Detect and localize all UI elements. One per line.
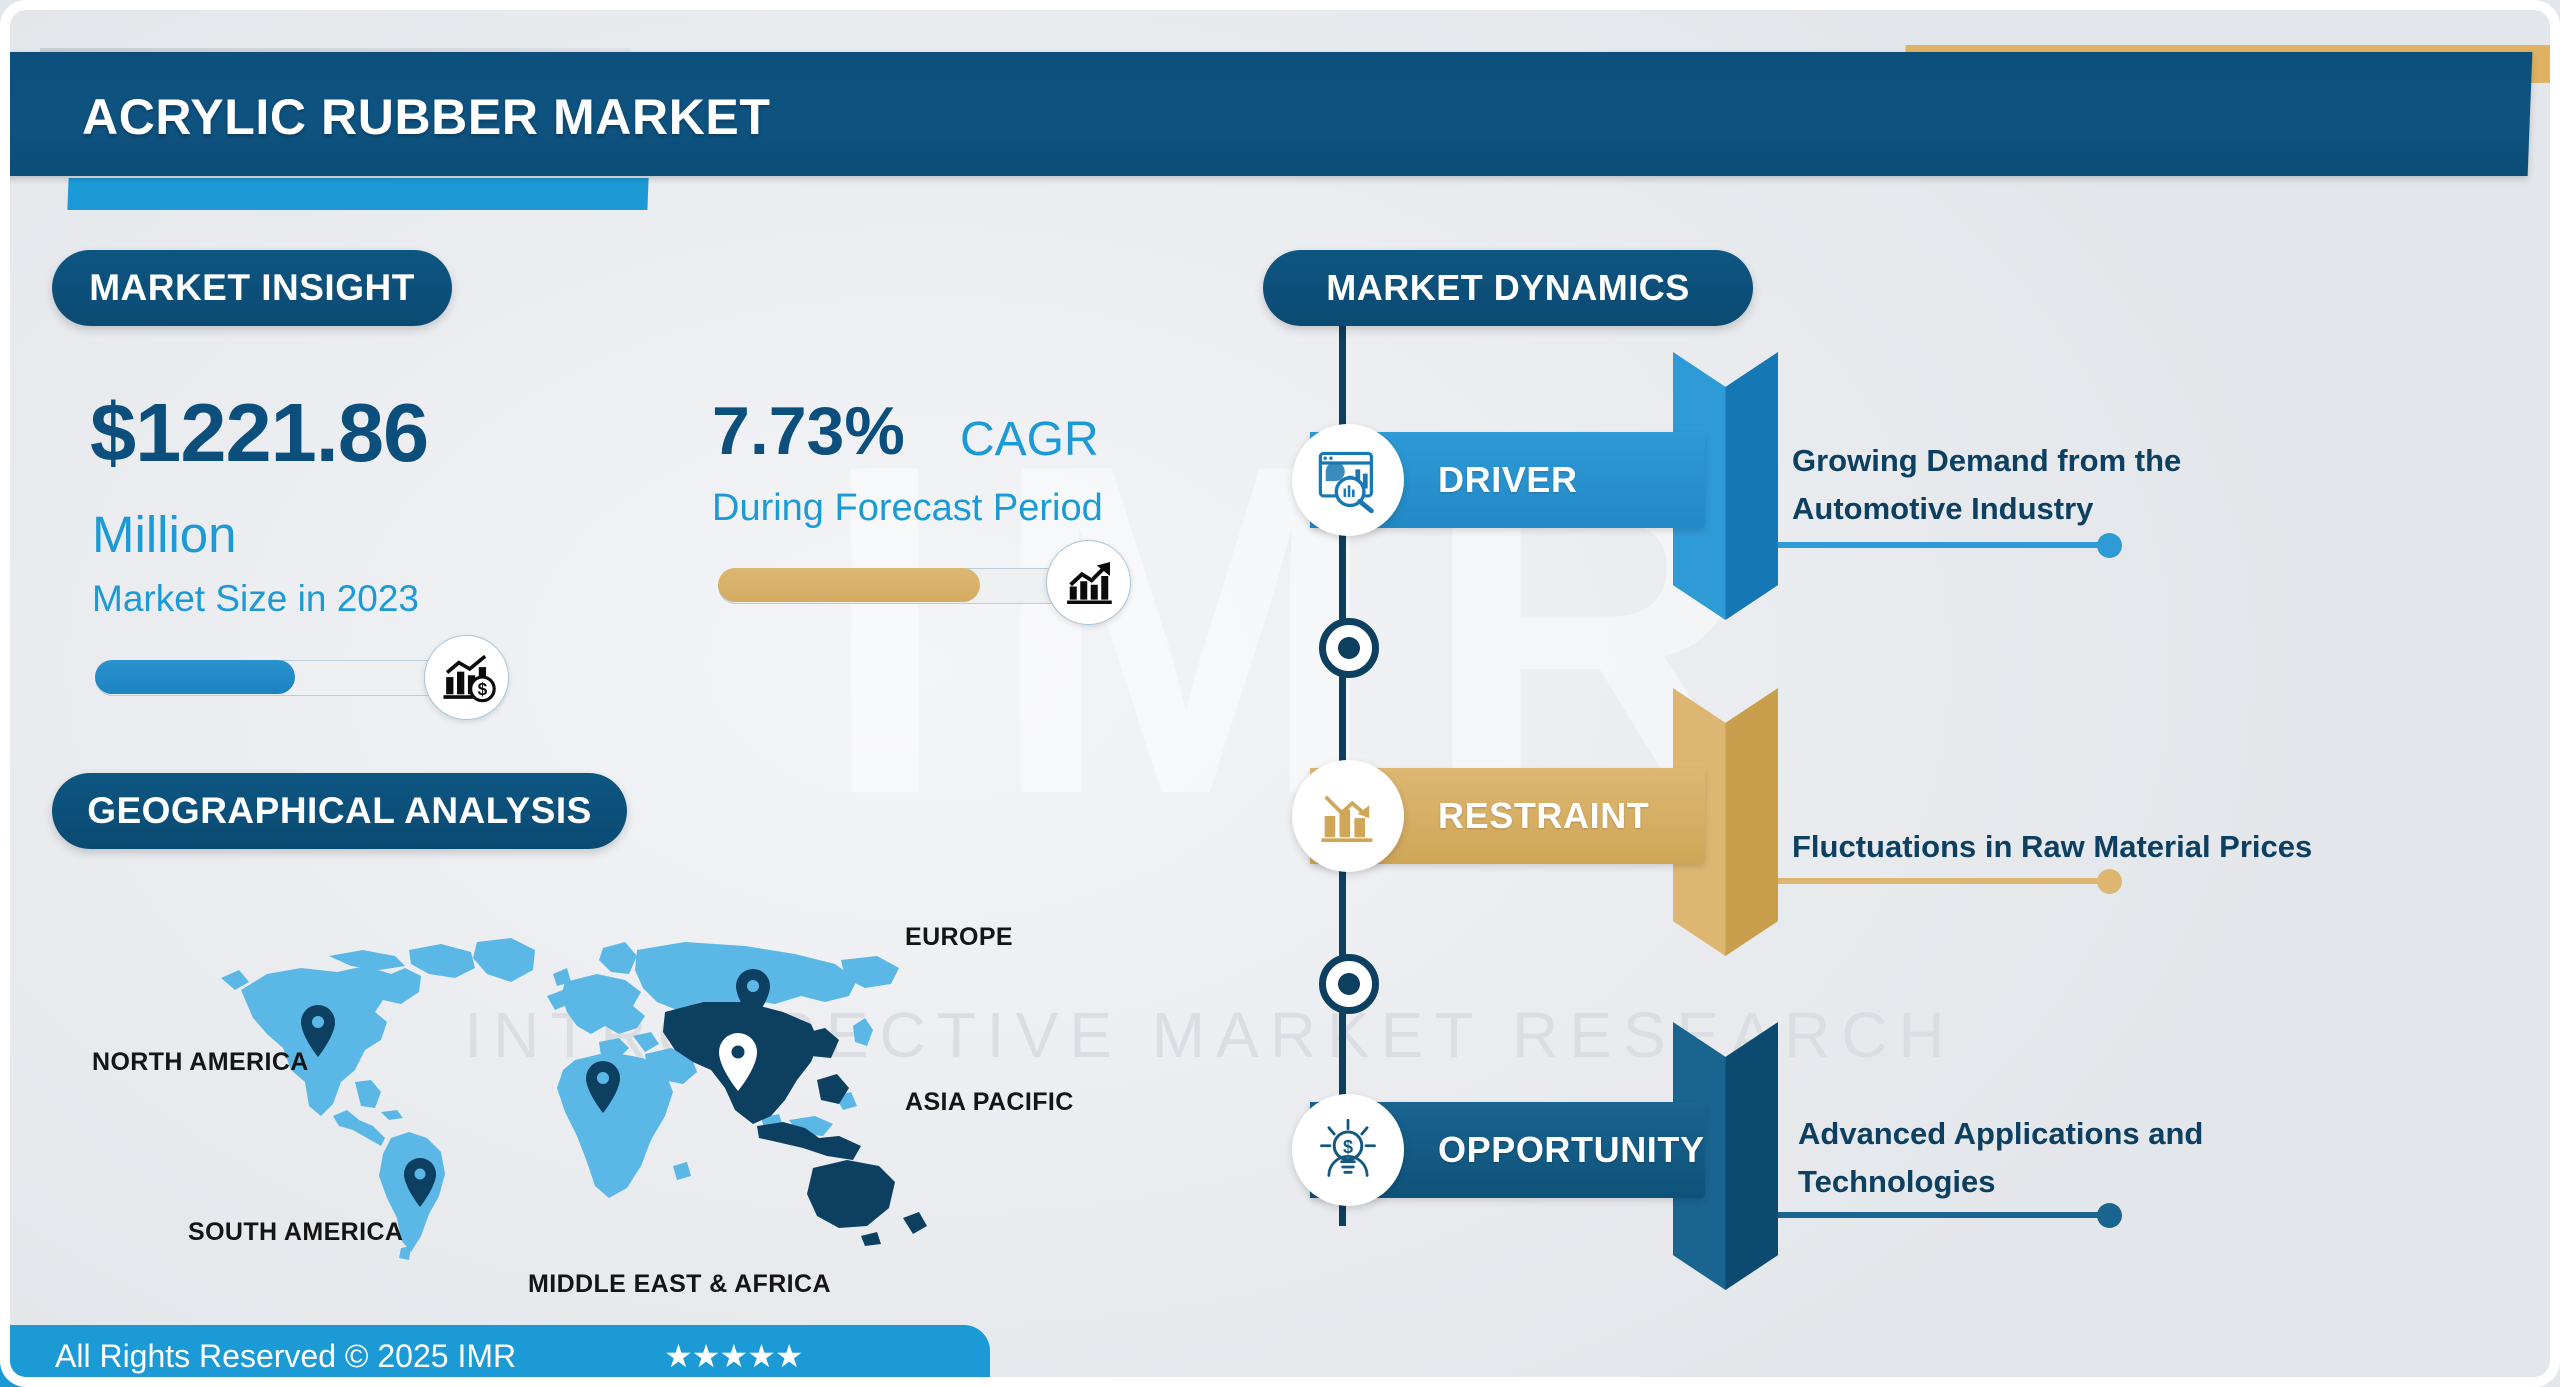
restraint-label: RESTRAINT [1438,795,1649,837]
restraint-text: Fluctuations in Raw Material Prices [1792,823,2312,871]
bar-chart-dollar-icon: $ [424,635,509,720]
restraint-connector [1778,878,2108,884]
driver-connector-dot [2097,533,2122,558]
opportunity-connector [1778,1212,2108,1218]
market-insight-pill: MARKET INSIGHT [52,250,452,326]
market-dynamics-pill: MARKET DYNAMICS [1263,250,1753,326]
timeline-node-2 [1319,954,1379,1014]
copyright-text: All Rights Reserved © 2025 IMR [55,1338,516,1375]
imr-logo-watermark: IMR [600,240,2020,1020]
geographical-analysis-pill: GEOGRAPHICAL ANALYSIS [52,773,627,849]
infographic-canvas: IMR INTROSPECTIVE MARKET RESEARCH ACRYLI… [0,0,2560,1387]
lightbulb-dollar-icon: $ [1292,1094,1404,1206]
growth-chart-icon [1046,540,1131,625]
restraint-connector-dot [2097,869,2122,894]
market-size-value: $1221.86 [90,385,428,481]
map-label-north-america: NORTH AMERICA [92,1048,309,1077]
page-title: ACRYLIC RUBBER MARKET [82,88,771,146]
map-label-europe: EUROPE [905,923,1013,952]
timeline-node-1 [1319,618,1379,678]
svg-text:$: $ [477,679,487,699]
footer-bar: All Rights Reserved © 2025 IMR ★★★★★ [0,1325,990,1387]
driver-text: Growing Demand from the Automotive Indus… [1792,437,2312,533]
market-size-progress-fill [95,660,295,694]
opportunity-connector-dot [2097,1203,2122,1228]
driver-connector [1778,542,2108,548]
analytics-search-icon [1292,424,1404,536]
cagr-label: CAGR [960,412,1099,467]
cagr-progress-fill [718,568,980,602]
driver-label: DRIVER [1438,459,1578,501]
cagr-caption: During Forecast Period [712,487,1103,530]
cagr-value: 7.73% [712,392,905,470]
opportunity-text: Advanced Applications and Technologies [1798,1110,2318,1206]
map-label-south-america: SOUTH AMERICA [188,1218,403,1247]
header-underline-accent [67,178,648,210]
star-rating: ★★★★★ [664,1337,802,1375]
opportunity-label: OPPORTUNITY [1438,1129,1705,1171]
map-label-middle-east-africa: MIDDLE EAST & AFRICA [528,1270,831,1299]
market-size-unit: Million [92,505,237,564]
market-size-caption: Market Size in 2023 [92,578,419,620]
declining-chart-icon [1292,760,1404,872]
map-label-asia-pacific: ASIA PACIFIC [905,1088,1074,1117]
svg-text:$: $ [1343,1137,1353,1157]
